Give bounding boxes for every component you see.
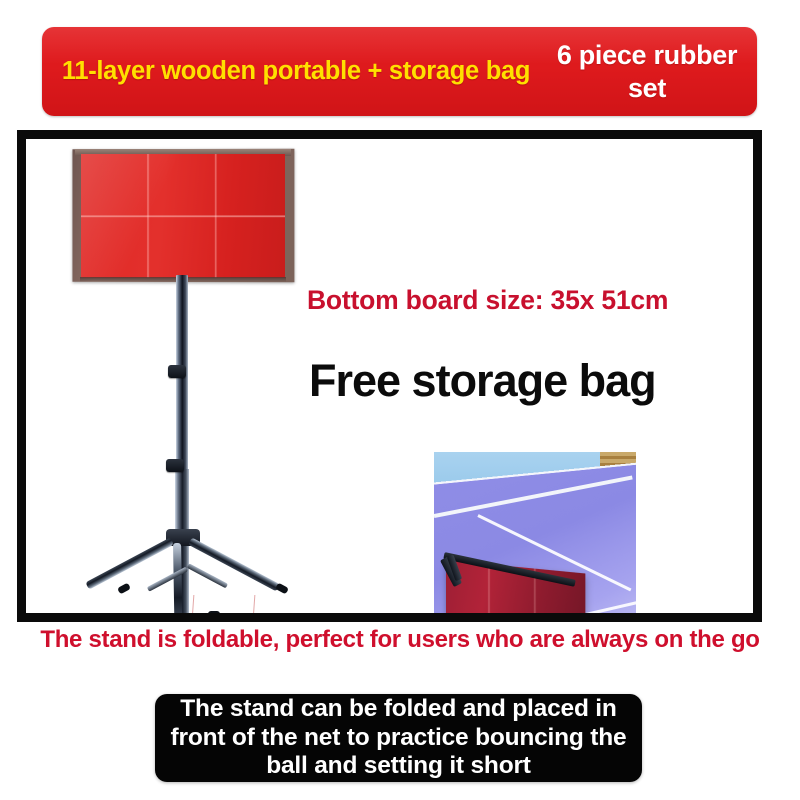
rebound-board [72, 149, 294, 282]
headline-banner: 11-layer wooden portable + storage bag 6… [42, 27, 757, 116]
main-photo-inner: Bottom board size: 35x 51cm Free storage… [26, 139, 753, 613]
usage-description-text: The stand can be folded and placed in fr… [155, 695, 642, 780]
floor-outline-marking [191, 595, 256, 613]
foldable-caption: The stand is foldable, perfect for users… [14, 626, 786, 655]
tripod-leg-right [188, 537, 280, 591]
bottom-board-size-label: Bottom board size: 35x 51cm [307, 285, 668, 316]
main-photo-panel: Bottom board size: 35x 51cm Free storage… [17, 130, 762, 622]
height-adjust-knob-upper [168, 365, 186, 378]
product-advertisement-image: 11-layer wooden portable + storage bag 6… [0, 0, 800, 800]
free-storage-bag-label: Free storage bag [309, 355, 656, 407]
banner-left-headline: 11-layer wooden portable + storage bag [56, 31, 536, 113]
board-gloss-highlight [81, 154, 285, 278]
banner-right-headline: 6 piece rubber set [542, 31, 752, 113]
tripod-foot-left [117, 583, 131, 595]
inset-photo-table-tennis [434, 452, 636, 613]
height-adjust-knob-lower [166, 459, 184, 472]
tripod-foot-right [275, 583, 289, 595]
board-rubber-face [81, 154, 285, 278]
product-photo-tripod-stand [48, 139, 328, 613]
usage-description-box: The stand can be folded and placed in fr… [155, 694, 642, 782]
tripod-brace-right [187, 563, 228, 588]
